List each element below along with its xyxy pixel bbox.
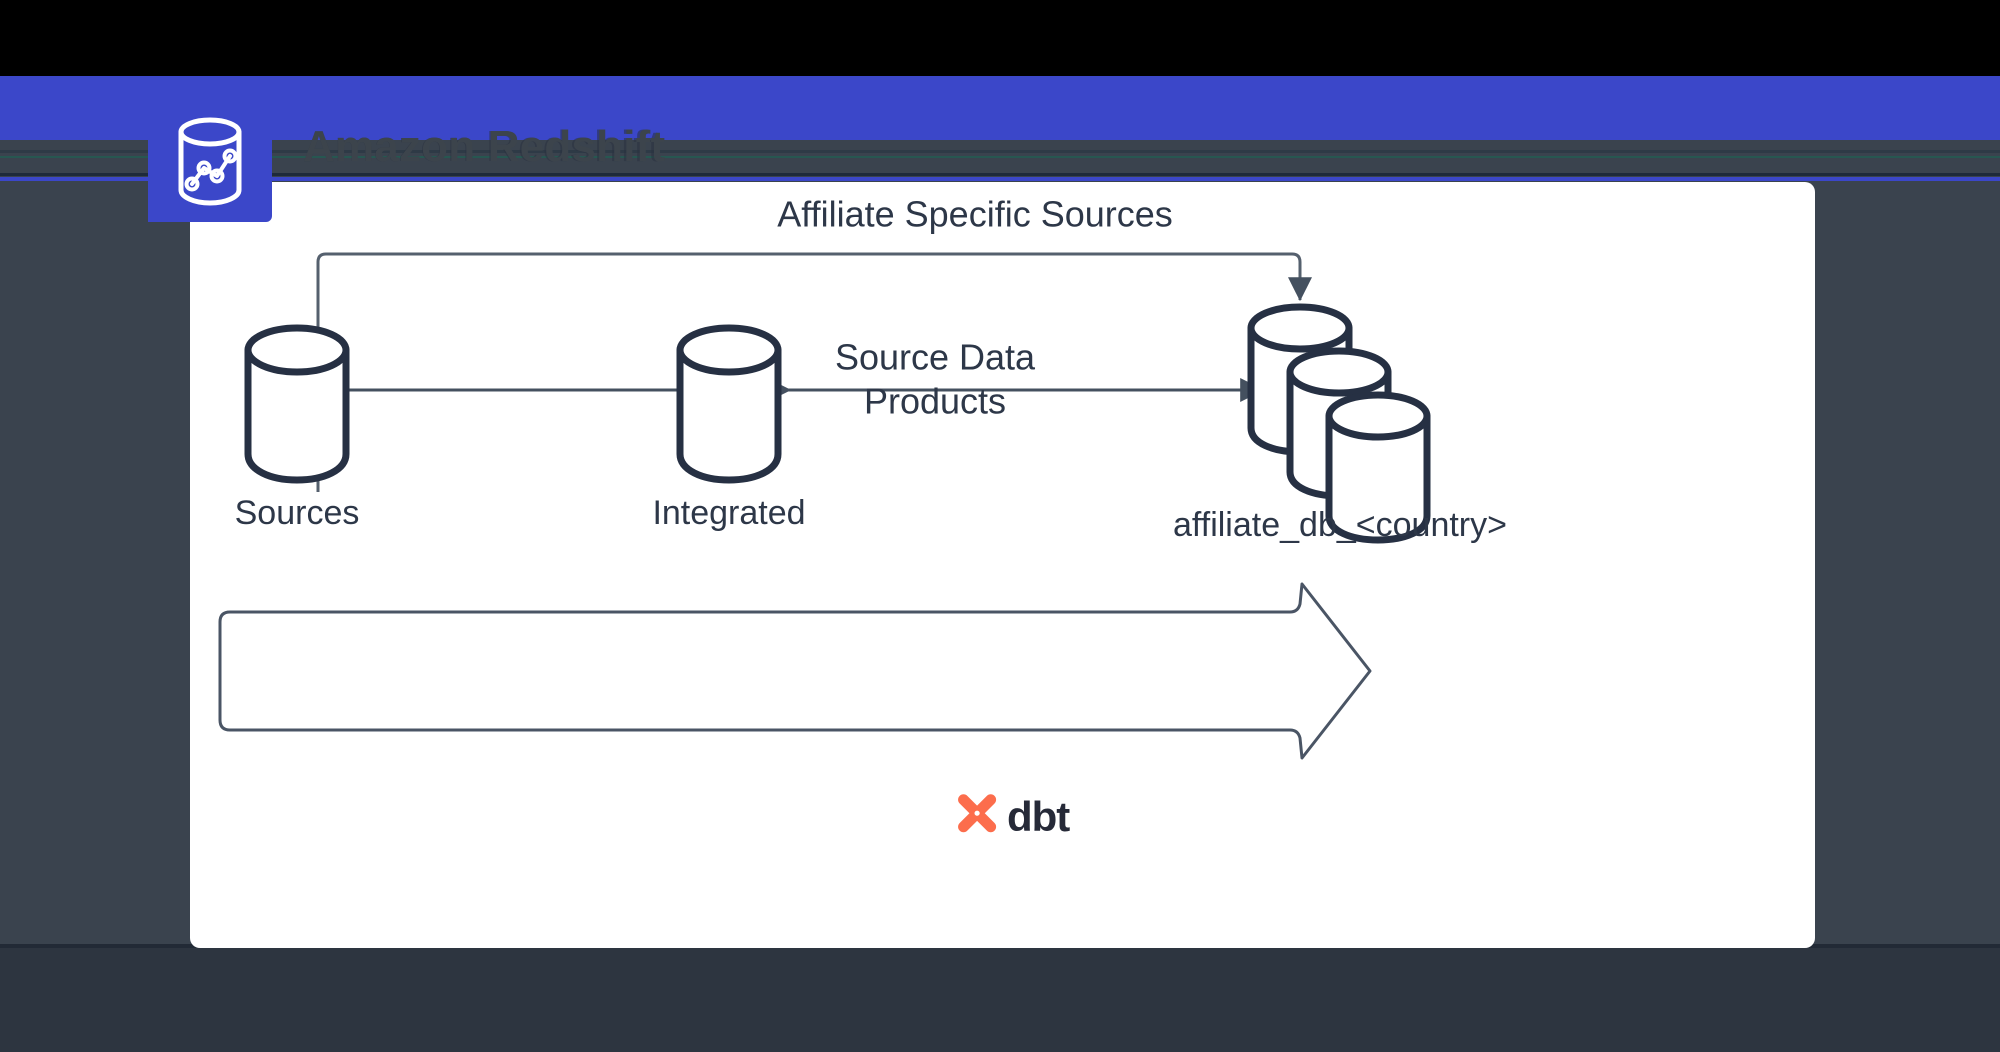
cylinder-icon xyxy=(248,328,346,480)
amazon-redshift-logo-tile xyxy=(148,100,272,222)
dbt-logo-icon xyxy=(955,792,999,841)
page-title: Amazon Redshift xyxy=(303,125,665,169)
node-integrated-label: Integrated xyxy=(652,494,805,532)
divider-line-1 xyxy=(0,150,2000,153)
dbt-logo-text: dbt xyxy=(1007,796,1069,838)
cylinder-icon xyxy=(680,328,778,480)
edge-label-source-data-line2: Products xyxy=(864,381,1006,422)
node-affiliate-db-label: affiliate_db_<country> xyxy=(1173,506,1507,544)
divider-line-3 xyxy=(0,173,2000,176)
dbt-logo: dbt xyxy=(955,792,1069,841)
node-affiliate-db[interactable]: affiliate_db_<country> xyxy=(1173,307,1507,544)
dbt-process-arrow xyxy=(220,584,1370,758)
node-sources-label: Sources xyxy=(235,494,360,532)
database-chart-icon xyxy=(173,115,247,207)
edge-sources-to-affiliate xyxy=(318,254,1300,492)
node-integrated[interactable]: Integrated xyxy=(652,328,805,532)
edge-label-affiliate-specific-sources: Affiliate Specific Sources xyxy=(777,194,1173,235)
divider-line-2 xyxy=(0,156,2000,158)
footer-band xyxy=(0,948,2000,1052)
node-sources[interactable]: Sources xyxy=(235,328,360,532)
top-black-band xyxy=(0,0,2000,76)
edge-label-source-data-line1: Source Data xyxy=(835,337,1036,378)
brand-blue-band xyxy=(0,76,2000,140)
screenshot-root: Amazon Redshift Amazon Redshift xyxy=(0,0,2000,1052)
